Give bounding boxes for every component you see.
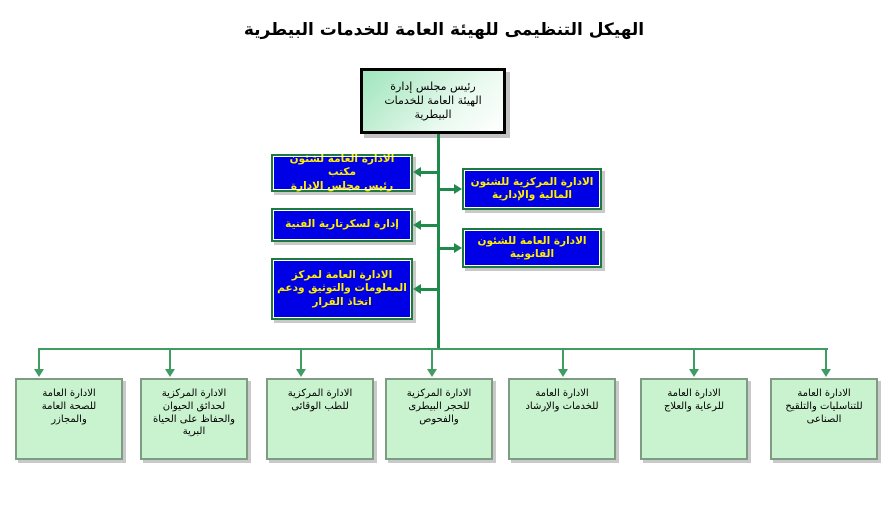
org-node-division-6[interactable]: الادارة العامة للرعاية والعلاج	[640, 378, 748, 460]
org-node-staff-left-1[interactable]: الادارة العامة لشئون مكتب رئيس مجلس الاد…	[271, 154, 413, 192]
org-node-division-5[interactable]: الادارة العامة للخدمات والإرشاد	[508, 378, 616, 460]
org-node-staff-left-2[interactable]: إدارة لسكرتارية الفنية	[271, 208, 413, 242]
org-node-staff-left-1-label: الادارة العامة لشئون مكتب رئيس مجلس الاد…	[273, 153, 411, 193]
org-node-division-1-label: الادارة العامة للصحة العامة والمجازر	[17, 388, 121, 426]
branch-arrow-right-2	[454, 243, 462, 253]
org-node-staff-left-2-label: إدارة لسكرتارية الفنية	[273, 218, 411, 231]
trunk-vertical-line	[437, 134, 440, 350]
drop-line-5	[562, 348, 564, 370]
page-title: الهيكل التنظيمى للهيئة العامة للخدمات ال…	[0, 20, 888, 40]
org-node-division-2-label: الادارة المركزية لحدائق الحيوان والحفاظ …	[142, 388, 246, 439]
branch-arrow-left-2	[413, 220, 421, 230]
branch-line-right-1	[439, 188, 454, 191]
org-node-division-5-label: الادارة العامة للخدمات والإرشاد	[510, 388, 614, 414]
drop-line-7	[825, 348, 827, 370]
drop-line-6	[693, 348, 695, 370]
org-node-division-3-label: الادارة المركزية للطب الوقائى	[268, 388, 372, 414]
drop-arrow-2	[165, 369, 175, 377]
branch-arrow-left-1	[413, 167, 421, 177]
drop-line-2	[169, 348, 171, 370]
org-node-chairman-label: رئيس مجلس إدارة الهيئة العامة للخدمات ال…	[363, 80, 503, 122]
drop-line-1	[38, 348, 40, 370]
org-node-division-3[interactable]: الادارة المركزية للطب الوقائى	[266, 378, 374, 460]
drop-arrow-6	[689, 369, 699, 377]
branch-line-left-2	[421, 224, 439, 227]
branch-arrow-right-1	[454, 184, 462, 194]
org-node-division-4[interactable]: الادارة المركزية للحجر البيطرى والفحوص	[385, 378, 493, 460]
branch-arrow-left-3	[413, 284, 421, 294]
org-node-division-1[interactable]: الادارة العامة للصحة العامة والمجازر	[15, 378, 123, 460]
drop-arrow-5	[558, 369, 568, 377]
org-node-staff-left-3[interactable]: الادارة العامة لمركز المعلومات والتوثيق …	[271, 258, 413, 320]
org-node-staff-right-1-label: الادارة المركزية للشئون المالية والإداري…	[464, 176, 600, 203]
distribution-bus-line	[38, 348, 828, 350]
org-node-staff-right-2[interactable]: الادارة العامة للشئون القانونية	[462, 228, 602, 268]
org-chart-canvas: الهيكل التنظيمى للهيئة العامة للخدمات ال…	[0, 0, 888, 522]
branch-line-left-3	[421, 288, 439, 291]
org-node-division-4-label: الادارة المركزية للحجر البيطرى والفحوص	[387, 388, 491, 426]
branch-line-left-1	[421, 171, 439, 174]
branch-line-right-2	[439, 247, 454, 250]
drop-line-3	[300, 348, 302, 370]
org-node-staff-left-3-label: الادارة العامة لمركز المعلومات والتوثيق …	[273, 269, 411, 309]
drop-arrow-7	[821, 369, 831, 377]
org-node-division-7-label: الادارة العامة للتناسليات والتلقيح الصنا…	[772, 388, 876, 426]
drop-arrow-3	[296, 369, 306, 377]
org-node-staff-right-2-label: الادارة العامة للشئون القانونية	[464, 235, 600, 262]
org-node-division-6-label: الادارة العامة للرعاية والعلاج	[642, 388, 746, 414]
drop-line-4	[431, 348, 433, 370]
org-node-chairman[interactable]: رئيس مجلس إدارة الهيئة العامة للخدمات ال…	[360, 68, 506, 134]
org-node-staff-right-1[interactable]: الادارة المركزية للشئون المالية والإداري…	[462, 168, 602, 210]
drop-arrow-1	[34, 369, 44, 377]
org-node-division-7[interactable]: الادارة العامة للتناسليات والتلقيح الصنا…	[770, 378, 878, 460]
drop-arrow-4	[427, 369, 437, 377]
org-node-division-2[interactable]: الادارة المركزية لحدائق الحيوان والحفاظ …	[140, 378, 248, 460]
